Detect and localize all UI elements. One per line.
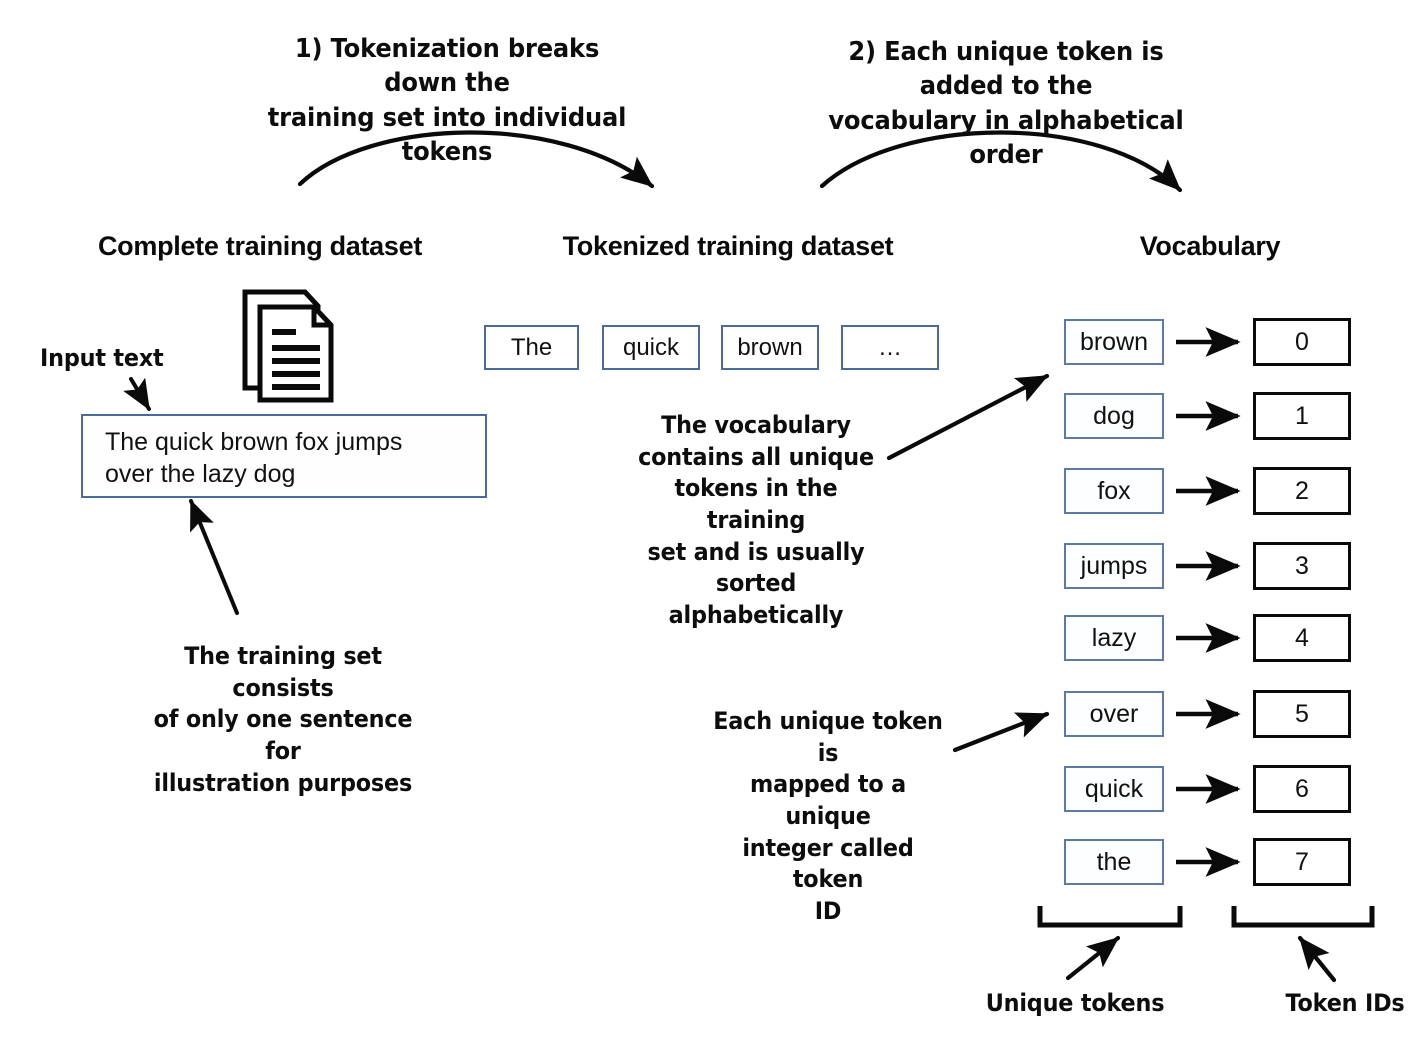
token-ids-label-arrow	[1300, 938, 1334, 980]
token-to-id-arrows	[1176, 342, 1238, 862]
heading-tokenized-training-dataset: Tokenized training dataset	[510, 231, 946, 262]
vocab-token-box[interactable]: the	[1064, 839, 1164, 885]
training-set-note-line1: The training set consists	[144, 641, 423, 704]
training-set-note-arrow	[191, 501, 237, 613]
vocab-token-label: the	[1097, 848, 1132, 877]
step1-caption: 1) Tokenization breaks down the training…	[261, 32, 633, 169]
vocab-token-label: brown	[1080, 328, 1148, 357]
token-chip[interactable]: …	[841, 325, 939, 370]
vocab-token-box[interactable]: jumps	[1064, 543, 1164, 589]
step2-caption: 2) Each unique token is added to the voc…	[805, 35, 1207, 172]
token-id-box[interactable]: 5	[1253, 690, 1351, 738]
token-id-note-line4: ID	[709, 896, 947, 928]
step2-caption-line1: 2) Each unique token is added to the	[805, 35, 1207, 104]
token-id-value: 7	[1295, 848, 1309, 877]
vocabulary-note-line3: tokens in the training	[630, 473, 883, 536]
vocabulary-note-arrow	[889, 376, 1047, 458]
heading-complete-training-dataset: Complete training dataset	[40, 231, 480, 262]
token-chip-label: quick	[623, 334, 679, 362]
input-text-pointer-arrow	[131, 379, 149, 409]
token-ids-bracket	[1234, 906, 1372, 925]
token-id-note-arrow	[955, 714, 1047, 750]
step1-caption-line1: 1) Tokenization breaks down the	[261, 32, 633, 101]
token-ids-label: Token IDs	[1261, 988, 1428, 1020]
token-chip[interactable]: brown	[721, 325, 819, 370]
training-set-note-line2: of only one sentence for	[144, 704, 423, 767]
unique-tokens-label-arrow	[1068, 938, 1118, 978]
token-id-value: 3	[1295, 552, 1309, 581]
unique-tokens-bracket	[1040, 906, 1180, 925]
vocabulary-note-line6: alphabetically	[630, 600, 883, 632]
step2-caption-line2: vocabulary in alphabetical order	[805, 104, 1207, 173]
vocab-token-label: dog	[1093, 402, 1135, 431]
token-id-note-line1: Each unique token is	[709, 706, 947, 769]
vocabulary-note-line5: sorted	[630, 568, 883, 600]
vocab-token-label: quick	[1085, 775, 1143, 804]
token-id-box[interactable]: 6	[1253, 765, 1351, 813]
token-id-note-line3: integer called token	[709, 833, 947, 896]
token-id-note-line2: mapped to a unique	[709, 769, 947, 832]
input-text-label: Input text	[40, 343, 164, 375]
token-chip[interactable]: quick	[602, 325, 700, 370]
vocabulary-note-line4: set and is usually	[630, 537, 883, 569]
step1-caption-line2: training set into individual tokens	[261, 101, 633, 170]
input-sentence-line1: The quick brown fox jumps	[105, 426, 471, 458]
diagram-canvas: 1) Tokenization breaks down the training…	[0, 0, 1428, 1042]
token-id-value: 4	[1295, 624, 1309, 653]
vocabulary-note-line2: contains all unique	[630, 442, 883, 474]
unique-tokens-label: Unique tokens	[968, 988, 1182, 1020]
vocab-token-box[interactable]: brown	[1064, 319, 1164, 365]
vocab-token-box[interactable]: lazy	[1064, 615, 1164, 661]
vocab-token-label: jumps	[1081, 552, 1148, 581]
token-id-value: 6	[1295, 775, 1309, 804]
token-id-value: 2	[1295, 477, 1309, 506]
input-text-box[interactable]: The quick brown fox jumps over the lazy …	[81, 414, 487, 498]
input-sentence-line2: over the lazy dog	[105, 458, 471, 490]
token-id-box[interactable]: 2	[1253, 467, 1351, 515]
vocab-token-box[interactable]: dog	[1064, 393, 1164, 439]
token-chip-label: brown	[737, 334, 802, 362]
heading-vocabulary: Vocabulary	[1070, 231, 1350, 262]
vocab-token-box[interactable]: fox	[1064, 468, 1164, 514]
token-id-box[interactable]: 4	[1253, 614, 1351, 662]
training-set-note: The training set consists of only one se…	[144, 641, 423, 799]
token-id-value: 5	[1295, 700, 1309, 729]
vocabulary-note: The vocabulary contains all unique token…	[630, 410, 883, 632]
vocab-token-box[interactable]: over	[1064, 691, 1164, 737]
vocabulary-note-line1: The vocabulary	[630, 410, 883, 442]
token-chip-label: …	[878, 334, 902, 362]
token-chip[interactable]: The	[484, 325, 579, 370]
token-id-value: 1	[1295, 402, 1309, 431]
vocab-token-label: lazy	[1092, 624, 1136, 653]
token-id-note: Each unique token is mapped to a unique …	[709, 706, 947, 928]
token-id-value: 0	[1295, 328, 1309, 357]
token-id-box[interactable]: 1	[1253, 392, 1351, 440]
token-id-box[interactable]: 0	[1253, 318, 1351, 366]
vocab-token-box[interactable]: quick	[1064, 766, 1164, 812]
training-set-note-line3: illustration purposes	[144, 768, 423, 800]
vocab-token-label: over	[1090, 700, 1139, 729]
token-id-box[interactable]: 3	[1253, 542, 1351, 590]
token-id-box[interactable]: 7	[1253, 838, 1351, 886]
document-stack-icon	[245, 292, 331, 400]
token-chip-label: The	[511, 334, 552, 362]
vocab-token-label: fox	[1097, 477, 1130, 506]
